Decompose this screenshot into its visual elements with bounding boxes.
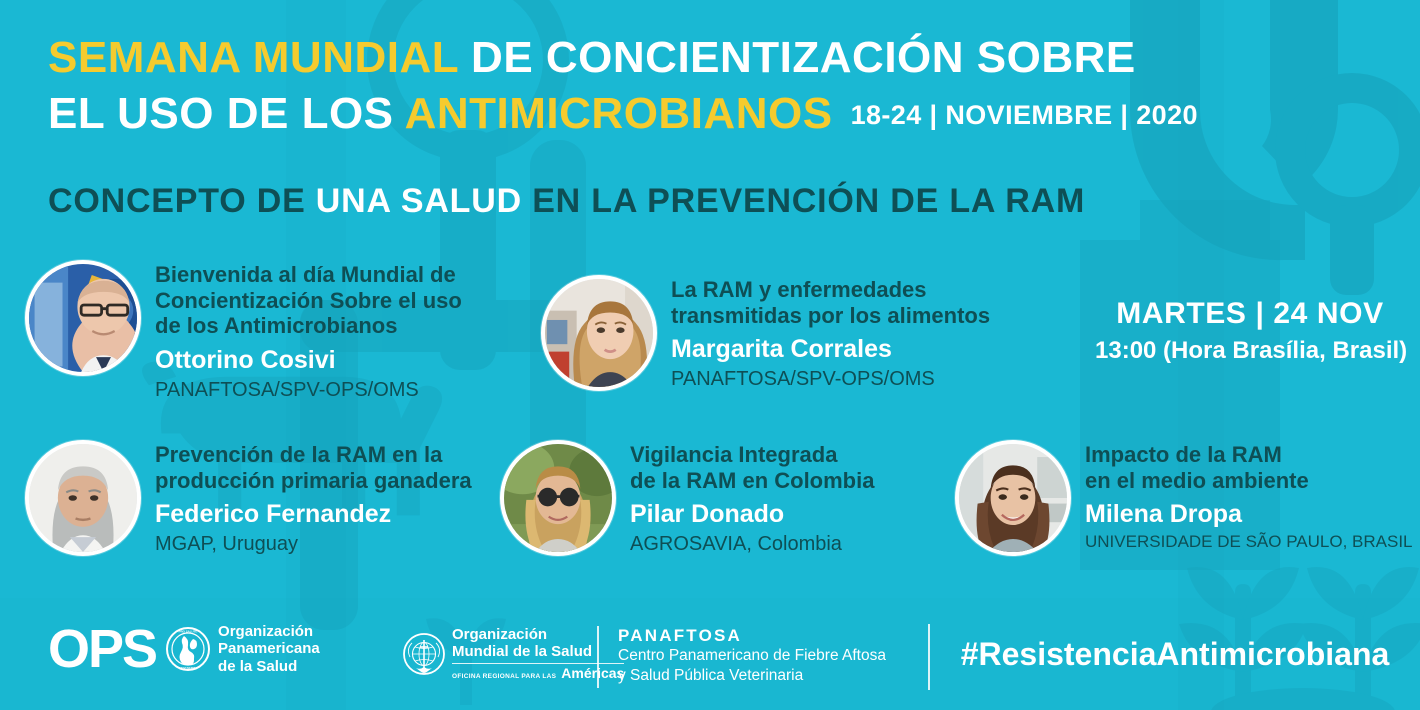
headline-highlight-2: ANTIMICROBIANOS — [405, 89, 833, 138]
avatar — [25, 260, 141, 376]
speaker-affiliation: MGAP, Uruguay — [155, 532, 472, 556]
who-seal-icon — [403, 633, 445, 675]
portrait-milena-dropa — [959, 444, 1067, 552]
subtitle: CONCEPTO DE UNA SALUD EN LA PREVENCIÓN D… — [48, 183, 1388, 220]
ops-name-lines: Organización Panamericana de la Salud — [218, 623, 320, 674]
event-day: MARTES | 24 NOV — [1095, 297, 1405, 331]
campaign-hashtag: #ResistenciaAntimicrobiana — [955, 636, 1395, 673]
svg-text:PRO SALUTE: PRO SALUTE — [179, 630, 198, 634]
speaker-card: La RAM y enfermedades transmitidas por l… — [541, 275, 990, 391]
logo-ops: OPS PRO SALUTE NOVI MUNDI — [48, 622, 320, 676]
speaker-card: Bienvenida al día Mundial de Concientiza… — [25, 260, 462, 402]
speaker-topic: Vigilancia Integrada de la RAM en Colomb… — [630, 442, 874, 493]
footer-logo-bar: OPS PRO SALUTE NOVI MUNDI — [0, 608, 1420, 710]
avatar — [500, 440, 616, 556]
footer-divider-2 — [928, 624, 930, 690]
speaker-info: La RAM y enfermedades transmitidas por l… — [671, 275, 990, 391]
ops-line-3: de la Salud — [218, 658, 320, 675]
headline-line-2: EL USO DE LOS ANTIMICROBIANOS18-24 | NOV… — [48, 92, 1378, 136]
awareness-week-banner: SEMANA MUNDIAL DE CONCIENTIZACIÓN SOBRE … — [0, 0, 1420, 710]
avatar — [541, 275, 657, 391]
speaker-topic: Bienvenida al día Mundial de Concientiza… — [155, 262, 462, 339]
portrait-federico-fernandez — [29, 444, 137, 552]
speaker-topic: Prevención de la RAM en la producción pr… — [155, 442, 472, 493]
event-time: 13:00 (Hora Brasília, Brasil) — [1095, 337, 1405, 365]
headline-highlight-1: SEMANA MUNDIAL — [48, 33, 458, 82]
panaftosa-title: PANAFTOSA — [618, 625, 886, 646]
paho-seal-icon: PRO SALUTE NOVI MUNDI — [166, 627, 210, 671]
speaker-affiliation: AGROSAVIA, Colombia — [630, 532, 874, 556]
headline-date-range: 18-24 | NOVIEMBRE | 2020 — [851, 100, 1198, 130]
speaker-info: Prevención de la RAM en la producción pr… — [155, 440, 472, 556]
ops-line-1: Organización — [218, 623, 320, 640]
headline-block: SEMANA MUNDIAL DE CONCIENTIZACIÓN SOBRE … — [48, 36, 1378, 136]
ops-line-2: Panamericana — [218, 640, 320, 657]
speaker-affiliation: PANAFTOSA/SPV-OPS/OMS — [155, 378, 462, 402]
portrait-ottorino-cosivi — [29, 264, 137, 372]
ops-acronym: OPS — [48, 622, 156, 676]
logo-oms: Organización Mundial de la Salud OFICINA… — [403, 626, 624, 682]
avatar — [955, 440, 1071, 556]
avatar — [25, 440, 141, 556]
svg-text:NOVI MUNDI: NOVI MUNDI — [179, 666, 197, 670]
speaker-name: Margarita Corrales — [671, 334, 990, 364]
footer-divider-1 — [597, 626, 599, 688]
portrait-margarita-corrales — [545, 279, 653, 387]
panaftosa-line-2: y Salud Pública Veterinaria — [618, 666, 886, 686]
speaker-info: Impacto de la RAM en el medio ambiente M… — [1085, 440, 1413, 552]
oms-region: Américas — [561, 666, 624, 682]
speaker-affiliation: PANAFTOSA/SPV-OPS/OMS — [671, 367, 990, 391]
speaker-name: Ottorino Cosivi — [155, 345, 462, 375]
speaker-topic: La RAM y enfermedades transmitidas por l… — [671, 277, 990, 328]
speaker-name: Pilar Donado — [630, 499, 874, 529]
speaker-info: Vigilancia Integrada de la RAM en Colomb… — [630, 440, 874, 556]
subtitle-pre: CONCEPTO DE — [48, 182, 316, 220]
subtitle-highlight: UNA SALUD — [316, 182, 522, 220]
event-datetime: MARTES | 24 NOV 13:00 (Hora Brasília, Br… — [1095, 297, 1405, 365]
portrait-pilar-donado — [504, 444, 612, 552]
speaker-affiliation: UNIVERSIDADE DE SÃO PAULO, BRASIL — [1085, 532, 1413, 552]
speaker-info: Bienvenida al día Mundial de Concientiza… — [155, 260, 462, 402]
speaker-name: Federico Fernandez — [155, 499, 472, 529]
subtitle-post: EN LA PREVENCIÓN DE LA RAM — [522, 182, 1085, 220]
speaker-card: Prevención de la RAM en la producción pr… — [25, 440, 472, 556]
panaftosa-line-1: Centro Panamericano de Fiebre Aftosa — [618, 646, 886, 666]
speaker-card: Vigilancia Integrada de la RAM en Colomb… — [500, 440, 874, 556]
logo-panaftosa: PANAFTOSA Centro Panamericano de Fiebre … — [618, 625, 886, 685]
speaker-name: Milena Dropa — [1085, 499, 1413, 529]
speaker-topic: Impacto de la RAM en el medio ambiente — [1085, 442, 1413, 493]
headline-line-1: SEMANA MUNDIAL DE CONCIENTIZACIÓN SOBRE — [48, 36, 1378, 80]
oms-region-prefix: OFICINA REGIONAL PARA LAS — [452, 673, 556, 680]
headline-rest-2: EL USO DE LOS — [48, 89, 405, 138]
headline-rest-1: DE CONCIENTIZACIÓN SOBRE — [458, 33, 1135, 82]
speaker-card: Impacto de la RAM en el medio ambiente M… — [955, 440, 1413, 556]
